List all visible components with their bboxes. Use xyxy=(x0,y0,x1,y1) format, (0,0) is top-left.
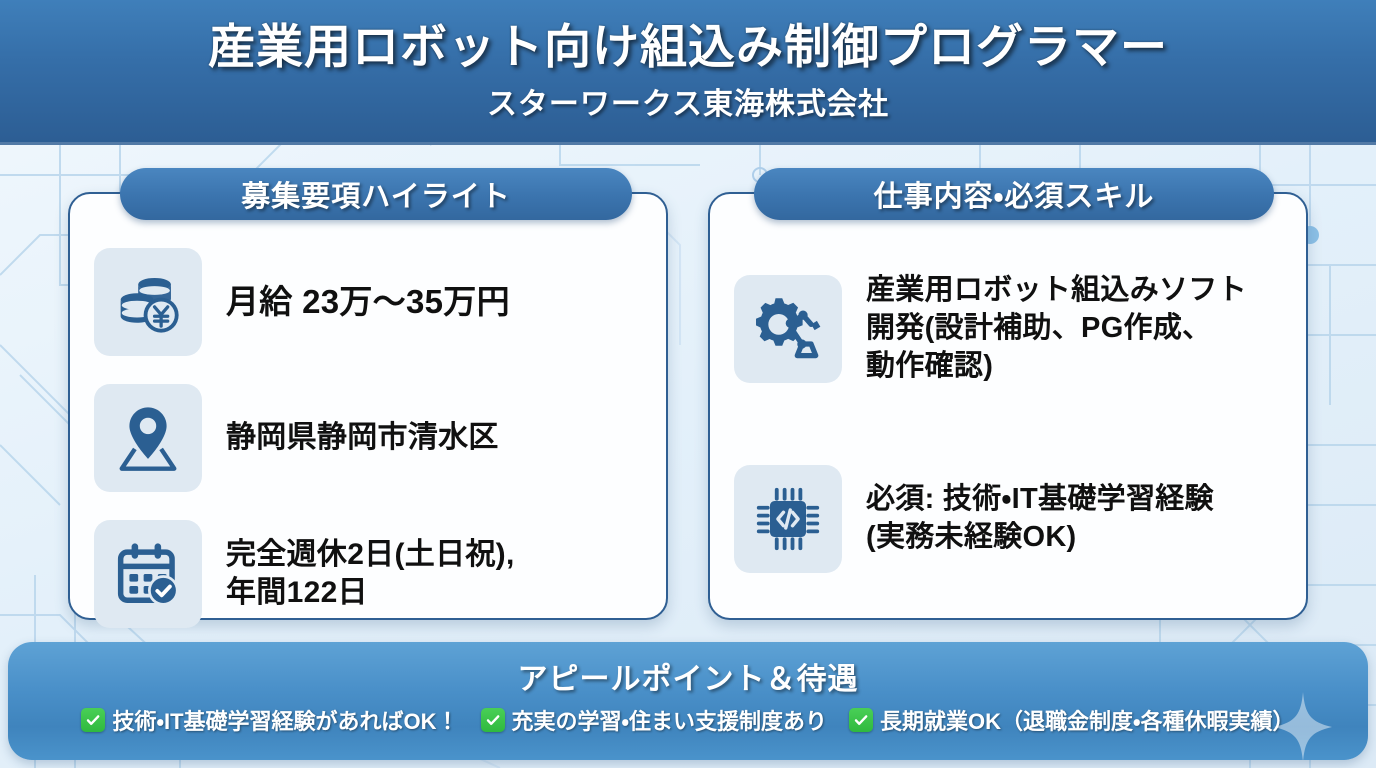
map-pin-icon xyxy=(94,384,202,492)
location-text: 静岡県静岡市清水区 xyxy=(226,419,499,457)
calendar-check-icon xyxy=(94,520,202,628)
footer-item-list: 技術・IT基礎学習経験があればOK！ 充実の学習・住まい支援制度あり 長期就業O… xyxy=(8,704,1368,736)
check-icon xyxy=(849,708,873,732)
appeal-points-footer: アピールポイント＆待遇 技術・IT基礎学習経験があればOK！ 充実の学習・住まい… xyxy=(8,642,1368,760)
requirements-highlight-card: 募集要項ハイライト xyxy=(68,192,668,620)
footer-item-support: 充実の学習・住まい支援制度あり xyxy=(481,704,827,736)
list-item-holidays: 完全週休2日(土日祝),年間122日 xyxy=(94,508,642,640)
company-name: スターワークス東海株式会社 xyxy=(487,79,889,123)
job-duties-skills-card: 仕事内容・必須スキル xyxy=(708,192,1308,620)
check-icon xyxy=(81,708,105,732)
coins-yen-icon xyxy=(94,248,202,356)
page-title: 産業用ロボット向け組込み制御プログラマー xyxy=(208,22,1168,73)
footer-item-skill: 技術・IT基礎学習経験があればOK！ xyxy=(81,704,458,736)
list-item-salary: 月給 23万〜35万円 xyxy=(94,236,642,368)
check-icon xyxy=(481,708,505,732)
salary-text: 月給 23万〜35万円 xyxy=(226,281,510,323)
job-duties-card-title-pill: 仕事内容・必須スキル xyxy=(754,168,1274,220)
job-duties-card-title: 仕事内容・必須スキル xyxy=(874,173,1155,215)
holidays-text: 完全週休2日(土日祝),年間122日 xyxy=(226,536,515,613)
required-skills-text: 必須: 技術・IT基礎学習経験(実務未経験OK) xyxy=(866,481,1214,556)
requirements-row-list: 月給 23万〜35万円 静岡県静岡市清水区 xyxy=(70,236,666,644)
footer-item-label: 長期就業OK（退職金制度・各種休暇実績） xyxy=(880,704,1294,736)
requirements-card-title: 募集要項ハイライト xyxy=(241,173,510,215)
microchip-code-icon xyxy=(734,465,842,573)
poster-header: 産業用ロボット向け組込み制御プログラマー スターワークス東海株式会社 xyxy=(0,0,1376,145)
list-item-job-duties: 産業用ロボット組込みソフト開発(設計補助、PG作成、動作確認) xyxy=(734,236,1282,422)
requirements-card-title-pill: 募集要項ハイライト xyxy=(120,168,632,220)
gear-robot-arm-icon xyxy=(734,275,842,383)
footer-title: アピールポイント＆待遇 xyxy=(8,654,1368,698)
footer-item-longterm: 長期就業OK（退職金制度・各種休暇実績） xyxy=(849,704,1294,736)
infographic-poster: 産業用ロボット向け組込み制御プログラマー スターワークス東海株式会社 募集要項ハ… xyxy=(0,0,1376,768)
footer-item-label: 充実の学習・住まい支援制度あり xyxy=(512,704,827,736)
footer-item-label: 技術・IT基礎学習経験があればOK！ xyxy=(112,704,458,736)
list-item-required-skills: 必須: 技術・IT基礎学習経験(実務未経験OK) xyxy=(734,426,1282,612)
list-item-location: 静岡県静岡市清水区 xyxy=(94,372,642,504)
job-duties-text: 産業用ロボット組込みソフト開発(設計補助、PG作成、動作確認) xyxy=(866,272,1247,385)
job-duties-row-list: 産業用ロボット組込みソフト開発(設計補助、PG作成、動作確認) xyxy=(710,236,1306,616)
